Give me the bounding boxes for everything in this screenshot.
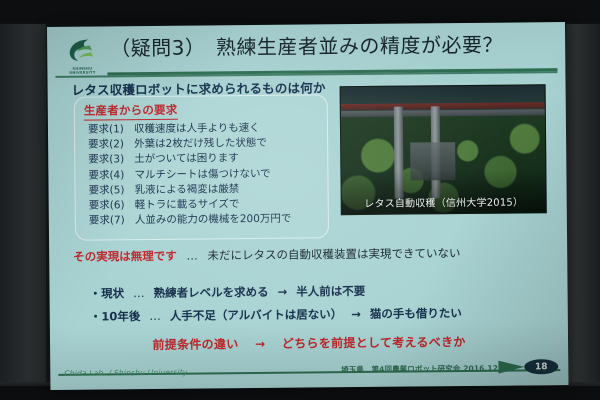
- list-item: 要求(7) 人並みの能力の機械を200万円で: [89, 212, 329, 230]
- list-item: ・10年後 … 人手不足（アルバイトは居ない） → 猫の手も借りたい: [90, 301, 560, 329]
- arrow-icon: →: [346, 307, 366, 321]
- requirement-number: 要求(4): [88, 168, 134, 184]
- requirement-number: 要求(7): [89, 213, 135, 229]
- statement-rest-text: 未だにレタスの自動収穫装置は実現できていない: [207, 246, 460, 262]
- requirement-number: 要求(1): [88, 122, 134, 138]
- bullet-text: 人手不足（アルバイトは居ない）: [170, 307, 343, 323]
- requirement-number: 要求(2): [88, 137, 134, 153]
- shinshu-university-logo-icon: SHINSHU UNIVERSITY: [61, 36, 103, 76]
- conclusion-left: 前提条件の違い: [152, 337, 238, 352]
- arrow-icon: →: [243, 337, 277, 351]
- slide-title: （疑問3） 熟練生産者並みの精度が必要？: [110, 31, 551, 61]
- lettuce-harvesting-robot-photo: レタス自動収穫（信州大学2015）: [340, 84, 547, 215]
- conclusion-line: 前提条件の違い → どちらを前提として考えるべきか: [50, 332, 568, 354]
- projected-slide-photo: SHINSHU UNIVERSITY （疑問3） 熟練生産者並みの精度が必要？ …: [0, 0, 600, 400]
- room-wall-right: [566, 24, 600, 400]
- page-number-badge: 18: [524, 359, 558, 374]
- footer-event-name: 埼玉県 第4回農業ロボット研究会 2016.12.7: [341, 363, 506, 376]
- requirement-number: 要求(5): [89, 183, 135, 199]
- statement-line: その実現は無理です … 未だにレタスの自動収穫装置は実現できていない: [73, 244, 553, 265]
- requirements-panel-title: 生産者からの要求: [84, 102, 178, 121]
- slide-footer: Chida Lab. / Shinshu University 埼玉県 第4回農…: [50, 361, 568, 386]
- footer-arrow-icon: [498, 360, 524, 373]
- room-wall-left: [0, 24, 46, 400]
- footer-lab-name: Chida Lab. / Shinshu University: [64, 368, 187, 378]
- presentation-slide: SHINSHU UNIVERSITY （疑問3） 熟練生産者並みの精度が必要？ …: [47, 22, 568, 390]
- requirement-text: 人並みの能力の機械を200万円で: [135, 212, 329, 229]
- bullet-text: 熟練者レベルを求める: [154, 285, 269, 300]
- bullet-ellipsis: …: [144, 309, 166, 323]
- statement-red-text: その実現は無理です: [73, 249, 177, 264]
- requirement-number: 要求(3): [88, 153, 134, 169]
- photo-caption: レタス自動収穫（信州大学2015）: [342, 193, 546, 210]
- arrow-icon: →: [273, 285, 293, 299]
- slide-header: SHINSHU UNIVERSITY （疑問3） 熟練生産者並みの精度が必要？: [47, 26, 565, 77]
- bullet-ellipsis: …: [128, 286, 150, 300]
- bullet-label: ・10年後: [90, 309, 141, 323]
- requirement-number: 要求(6): [89, 198, 135, 214]
- logo-caption: SHINSHU UNIVERSITY: [60, 66, 104, 75]
- bullet-label: ・現状: [89, 286, 124, 300]
- comparison-bullets: ・現状 … 熟練者レベルを求める → 半人前は不要 ・10年後 … 人手不足（ア…: [89, 278, 559, 329]
- statement-ellipsis: …: [180, 249, 204, 263]
- conclusion-right: どちらを前提として考えるべきか: [282, 335, 466, 351]
- bullet-result: 猫の手も借りたい: [370, 306, 462, 321]
- bullet-result: 半人前は不要: [296, 284, 365, 299]
- requirements-list: 要求(1) 収穫速度は人手よりも速く 要求(2) 外葉は2枚だけ残した状態で 要…: [88, 120, 329, 229]
